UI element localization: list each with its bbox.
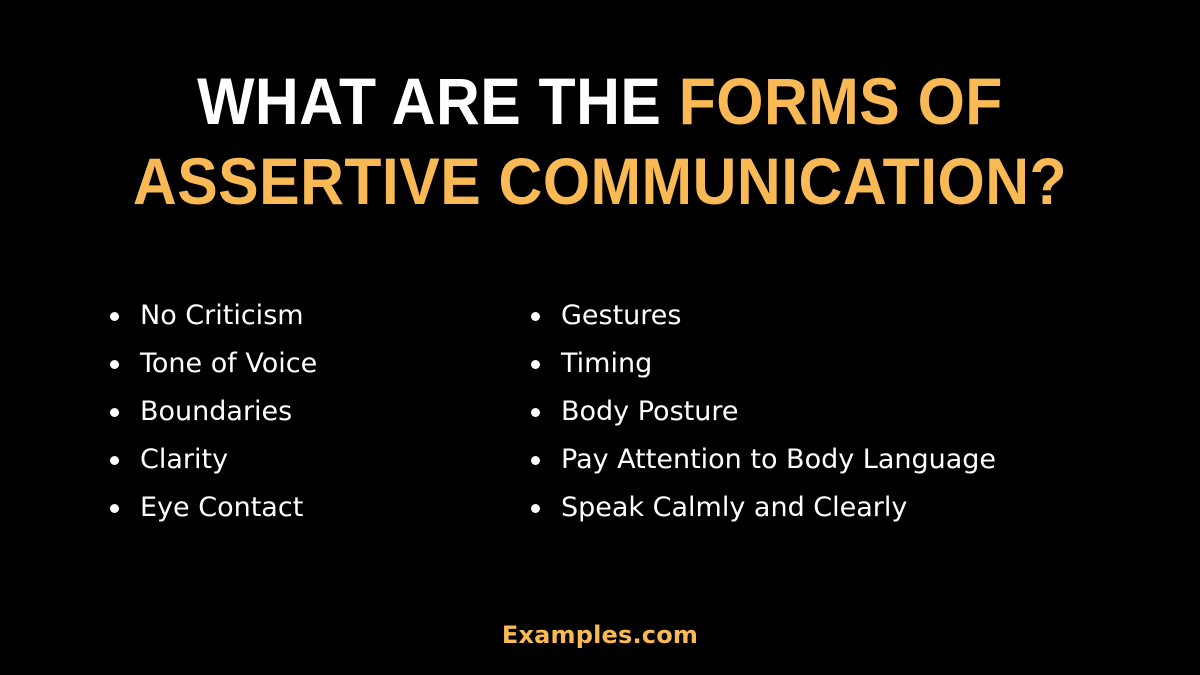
list-item: Boundaries: [104, 388, 504, 436]
list-item-label: Speak Calmly and Clearly: [561, 492, 907, 523]
slide-canvas: WHAT ARE THE FORMS OF ASSERTIVE COMMUNIC…: [0, 0, 1200, 675]
list-item: No Criticism: [104, 292, 504, 340]
list-item-label: Timing: [561, 348, 652, 379]
list-item: Tone of Voice: [104, 340, 504, 388]
right-bullet-list: Gestures Timing Body Posture Pay Attenti…: [525, 292, 1125, 532]
list-item-label: Clarity: [140, 444, 228, 475]
title-line-1-white-part: WHAT ARE THE: [197, 64, 679, 138]
list-item-label: Gestures: [561, 300, 682, 331]
forms-list-container: No Criticism Tone of Voice Boundaries Cl…: [0, 292, 1200, 532]
list-item: Clarity: [104, 436, 504, 484]
bullet-dot-icon: [531, 408, 540, 417]
list-item-label: No Criticism: [140, 300, 304, 331]
left-bullet-list: No Criticism Tone of Voice Boundaries Cl…: [104, 292, 504, 532]
bullet-dot-icon: [531, 360, 540, 369]
title-line-1: WHAT ARE THE FORMS OF: [48, 68, 1152, 134]
bullet-dot-icon: [110, 360, 119, 369]
title-line-2: ASSERTIVE COMMUNICATION?: [48, 148, 1152, 214]
list-item-label: Pay Attention to Body Language: [561, 444, 996, 475]
page-title: WHAT ARE THE FORMS OF ASSERTIVE COMMUNIC…: [0, 68, 1200, 214]
list-item: Timing: [525, 340, 1125, 388]
list-item: Speak Calmly and Clearly: [525, 484, 1125, 532]
brand-watermark[interactable]: Examples.com: [0, 621, 1200, 649]
list-item: Gestures: [525, 292, 1125, 340]
left-column: No Criticism Tone of Voice Boundaries Cl…: [104, 292, 504, 532]
list-item: Body Posture: [525, 388, 1125, 436]
list-item-label: Boundaries: [140, 396, 292, 427]
right-column: Gestures Timing Body Posture Pay Attenti…: [525, 292, 1125, 532]
bullet-dot-icon: [110, 504, 119, 513]
list-item: Pay Attention to Body Language: [525, 436, 1125, 484]
list-item-label: Body Posture: [561, 396, 738, 427]
bullet-dot-icon: [531, 456, 540, 465]
bullet-dot-icon: [531, 312, 540, 321]
bullet-dot-icon: [531, 504, 540, 513]
list-item-label: Tone of Voice: [140, 348, 317, 379]
bullet-dot-icon: [110, 312, 119, 321]
title-line-1-amber-part: FORMS OF: [679, 64, 1003, 138]
list-item: Eye Contact: [104, 484, 504, 532]
bullet-dot-icon: [110, 456, 119, 465]
bullet-dot-icon: [110, 408, 119, 417]
list-item-label: Eye Contact: [140, 492, 303, 523]
